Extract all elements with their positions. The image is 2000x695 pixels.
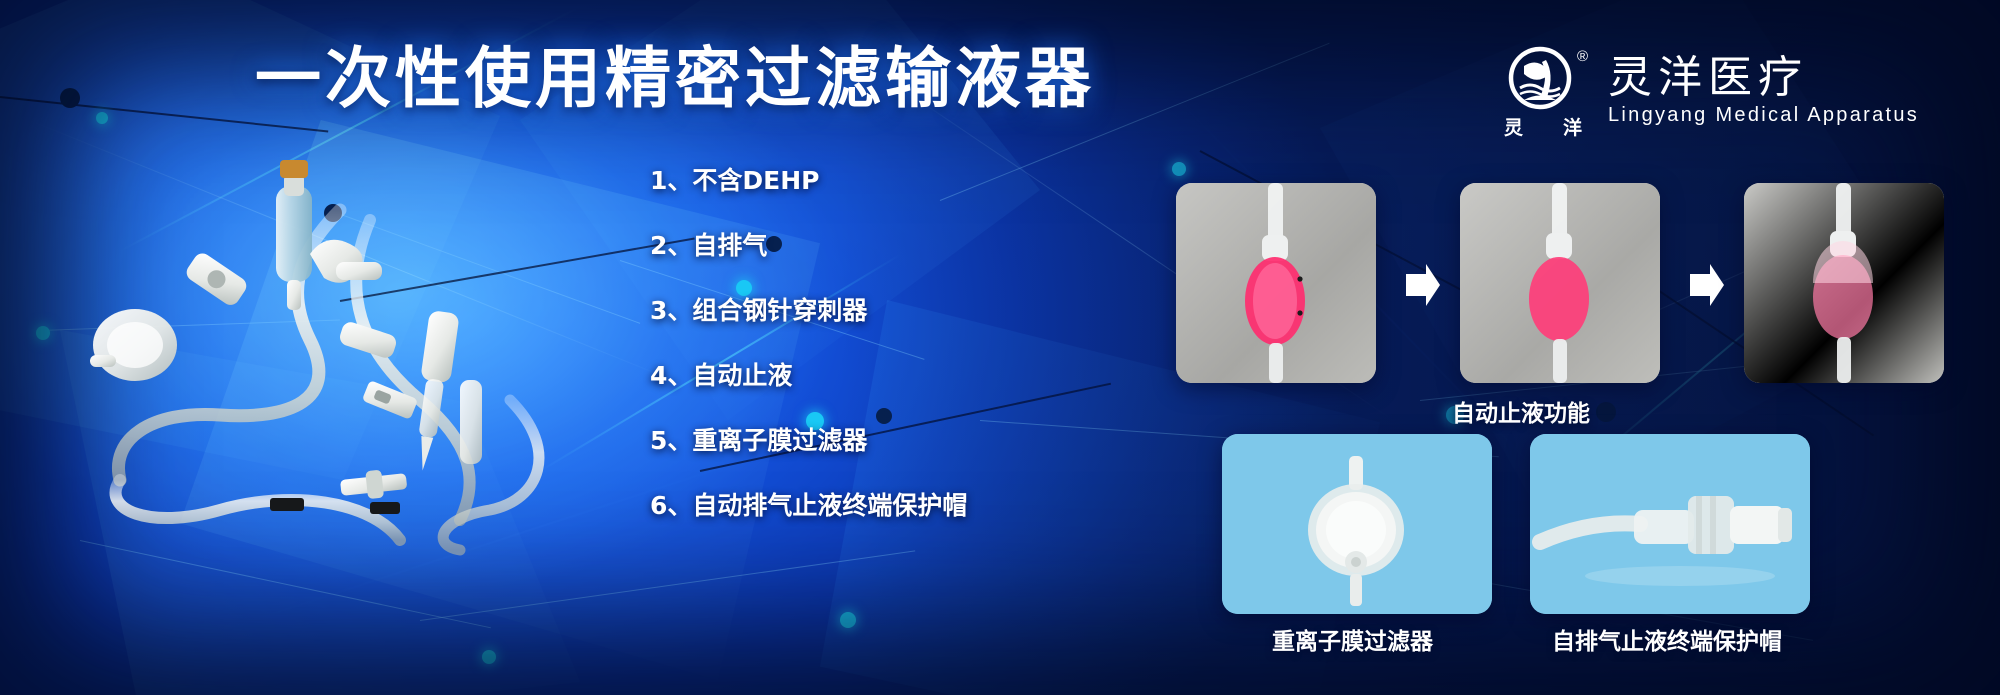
brand-name-cn: 灵洋医疗 (1608, 55, 1919, 101)
gallery-caption-bottom-right: 自排气止液终端保护帽 (1552, 622, 1782, 656)
arrow-right-icon (1402, 262, 1442, 308)
logo-emblem-icon: ® 灵 洋 (1500, 44, 1586, 138)
gallery-photo-ion-filter (1222, 434, 1492, 614)
feature-item: 5、重离子膜过滤器 (650, 428, 980, 453)
feature-item: 2、自排气 (650, 233, 980, 258)
gallery-caption-bottom-left: 重离子膜过滤器 (1272, 622, 1433, 656)
arrow-right-icon (1686, 262, 1726, 308)
feature-item: 3、组合钢针穿刺器 (650, 298, 980, 323)
gallery-photo-terminal-cap (1530, 434, 1810, 614)
brand-name-block: 灵洋医疗 Lingyang Medical Apparatus (1608, 55, 1919, 126)
logo-emblem-char-right: 洋 (1563, 113, 1582, 140)
brand-name-en: Lingyang Medical Apparatus (1608, 104, 1919, 127)
feature-item: 6、自动排气止液终端保护帽 (650, 493, 980, 518)
feature-item: 4、自动止液 (650, 363, 980, 388)
gallery-photo-stopflow-1 (1176, 183, 1376, 383)
logo-emblem-char-left: 灵 (1504, 113, 1523, 140)
product-hero-image (40, 150, 660, 550)
registered-mark-icon: ® (1577, 48, 1588, 65)
page-title: 一次性使用精密过滤输液器 (255, 46, 1095, 112)
logo-emblem-caption: 灵 洋 (1500, 113, 1586, 140)
product-banner: 一次性使用精密过滤输液器 ® 灵 洋 灵洋医疗 Lingyang Medical… (0, 0, 2000, 695)
feature-item: 1、不含DEHP (650, 168, 980, 193)
gallery-photo-stopflow-3 (1744, 183, 1944, 383)
brand-logo: ® 灵 洋 灵洋医疗 Lingyang Medical Apparatus (1500, 44, 1919, 138)
gallery-caption-top: 自动止液功能 (1452, 394, 1590, 428)
feature-list: 1、不含DEHP 2、自排气 3、组合钢针穿刺器 4、自动止液 5、重离子膜过滤… (650, 168, 980, 558)
gallery-photo-stopflow-2 (1460, 183, 1660, 383)
